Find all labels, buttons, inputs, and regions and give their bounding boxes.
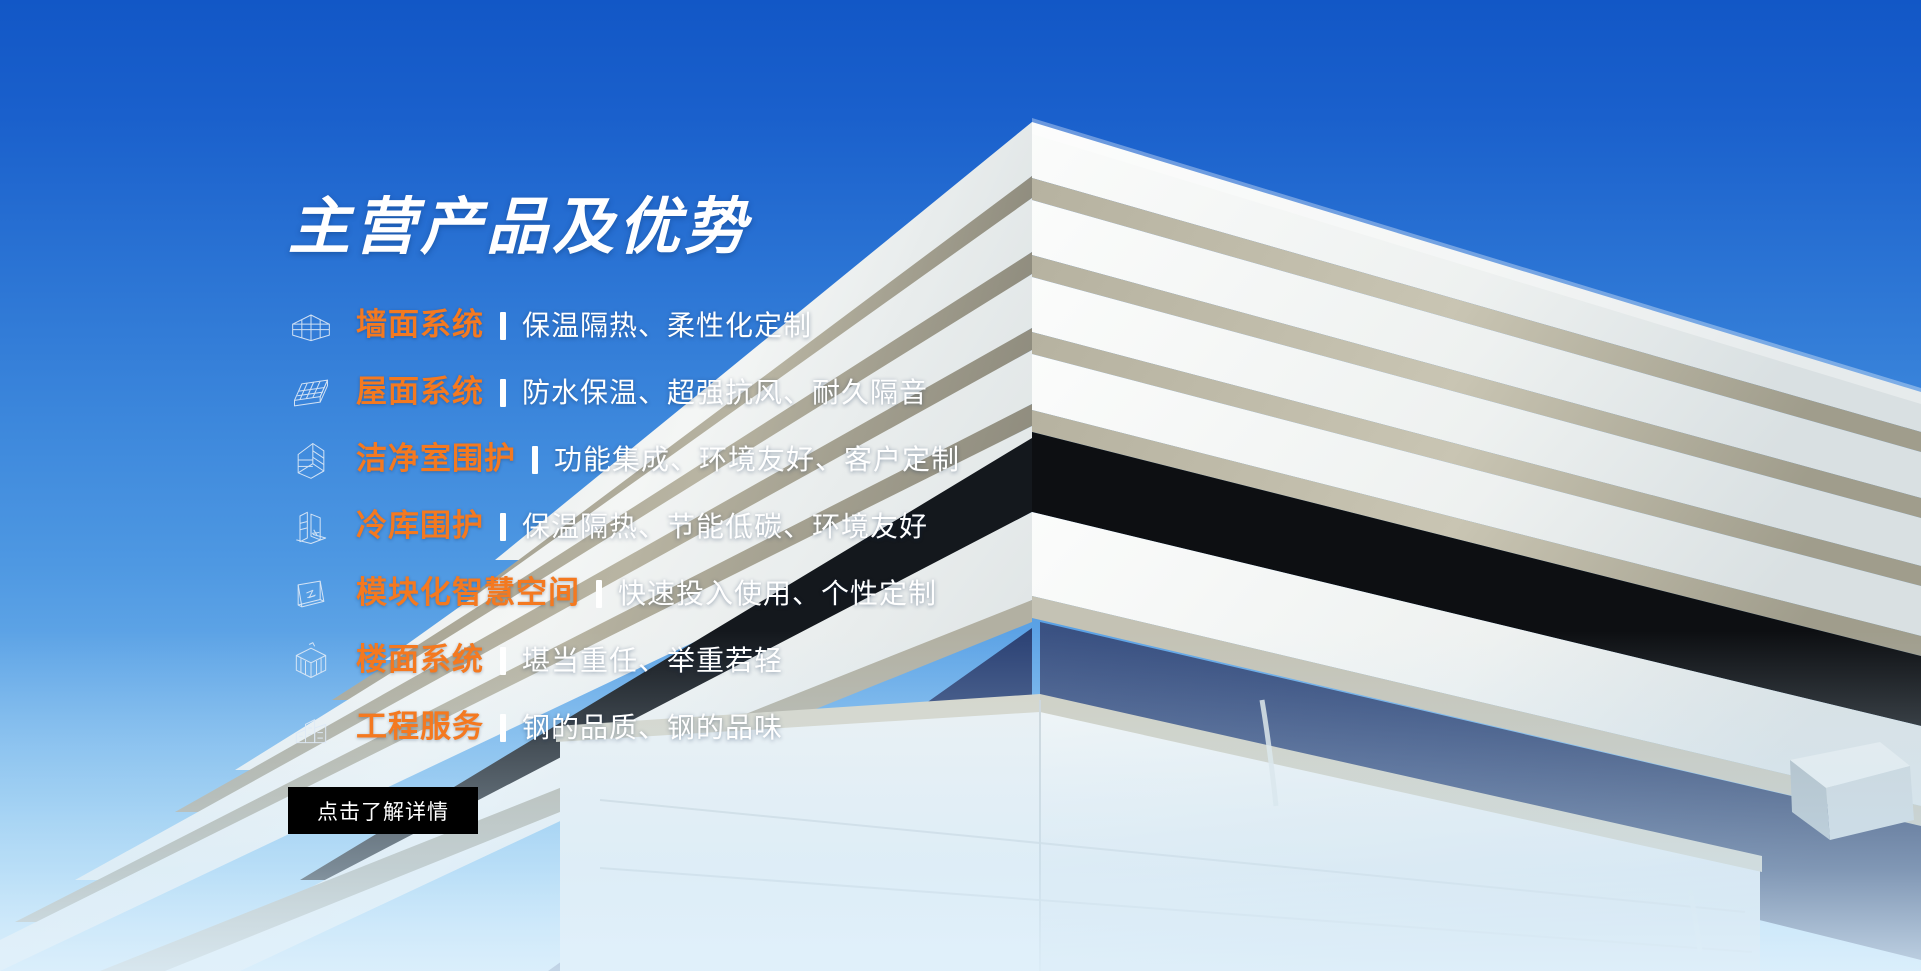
product-description: 保温隔热、柔性化定制 [522, 312, 812, 340]
product-category: 楼面系统 [356, 645, 484, 676]
divider-bar [500, 379, 506, 407]
list-item[interactable]: 楼面系统 堪当重任、举重若轻 [288, 627, 1438, 694]
product-category: 墙面系统 [356, 310, 484, 341]
product-category: 冷库围护 [356, 511, 484, 542]
list-item[interactable]: 墙面系统 保温隔热、柔性化定制 [288, 292, 1438, 359]
product-category: 模块化智慧空间 [356, 578, 580, 609]
divider-bar [500, 312, 506, 340]
divider-bar [500, 714, 506, 742]
product-description: 保温隔热、节能低碳、环境友好 [522, 513, 928, 541]
product-category: 洁净室围护 [356, 444, 516, 475]
engineering-service-icon [288, 705, 334, 751]
divider-bar [532, 446, 538, 474]
cold-storage-icon [288, 504, 334, 550]
roof-equipment-unit [1790, 742, 1914, 840]
divider-bar [500, 647, 506, 675]
product-description: 堪当重任、举重若轻 [522, 647, 783, 675]
product-advantage-banner: 主营产品及优势 墙面系统 保温隔热、柔性化定制 [0, 0, 1921, 971]
product-description: 功能集成、环境友好、客户定制 [554, 446, 960, 474]
cleanroom-envelope-icon [288, 437, 334, 483]
content-column: 主营产品及优势 墙面系统 保温隔热、柔性化定制 [288, 196, 1438, 834]
list-item[interactable]: 工程服务 钢的品质、钢的品味 [288, 694, 1438, 761]
divider-bar [596, 580, 602, 608]
product-description: 快速投入使用、个性定制 [618, 580, 937, 608]
list-item[interactable]: 模块化智慧空间 快速投入使用、个性定制 [288, 560, 1438, 627]
product-category: 屋面系统 [356, 377, 484, 408]
product-description: 钢的品质、钢的品味 [522, 714, 783, 742]
roof-system-icon [288, 370, 334, 416]
divider-bar [500, 513, 506, 541]
page-title: 主营产品及优势 [288, 196, 1438, 258]
product-category: 工程服务 [356, 712, 484, 743]
floor-system-icon [288, 638, 334, 684]
modular-space-icon [288, 571, 334, 617]
learn-more-button[interactable]: 点击了解详情 [288, 787, 478, 834]
product-description: 防水保温、超强抗风、耐久隔音 [522, 379, 928, 407]
list-item[interactable]: 洁净室围护 功能集成、环境友好、客户定制 [288, 426, 1438, 493]
product-list: 墙面系统 保温隔热、柔性化定制 屋面系统 防水保温、超强抗风、 [288, 292, 1438, 761]
list-item[interactable]: 屋面系统 防水保温、超强抗风、耐久隔音 [288, 359, 1438, 426]
wall-system-icon [288, 303, 334, 349]
list-item[interactable]: 冷库围护 保温隔热、节能低碳、环境友好 [288, 493, 1438, 560]
